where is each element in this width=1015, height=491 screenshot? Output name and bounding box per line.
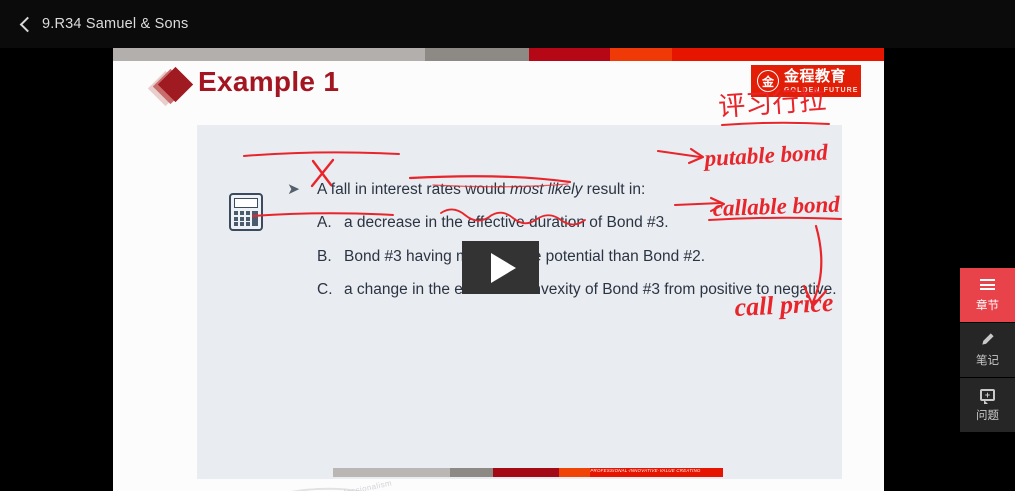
- rail-item-chapters[interactable]: 章节: [960, 268, 1015, 323]
- slide-footer-bar: PROFESSIONAL·INNOVATIVE·VALUE CREATING: [333, 468, 723, 477]
- logo-english-name: GOLDEN FUTURE: [784, 87, 859, 94]
- pencil-icon: [980, 332, 995, 347]
- question-lead-before: A fall in interest rates would: [317, 181, 510, 198]
- option-a[interactable]: A. a decrease in the effective duration …: [317, 213, 847, 232]
- slide-title: Example 1: [198, 66, 339, 98]
- logo-seal-icon: 金: [757, 70, 779, 92]
- rail-item-notes[interactable]: 笔记: [960, 323, 1015, 378]
- play-icon: [491, 253, 516, 283]
- slide-top-color-strip: [113, 48, 884, 61]
- option-b-key: B.: [317, 247, 344, 266]
- rail-item-questions[interactable]: + 问题: [960, 378, 1015, 433]
- tool-rail: 章节 笔记 + 问题: [960, 268, 1015, 433]
- diamond-icon: [151, 71, 195, 107]
- page-title: 9.R34 Samuel & Sons: [42, 16, 188, 32]
- rail-item-notes-label: 笔记: [976, 352, 999, 368]
- logo-chinese-name: 金程教育: [784, 69, 859, 84]
- chevron-left-icon: [20, 16, 36, 32]
- option-c-key: C.: [317, 280, 344, 299]
- option-c-text: a change in the effective convexity of B…: [344, 280, 837, 299]
- top-navigation-bar: 9.R34 Samuel & Sons: [0, 0, 1015, 48]
- brand-logo: 金 金程教育 GOLDEN FUTURE: [751, 65, 861, 97]
- option-c[interactable]: C. a change in the effective convexity o…: [317, 280, 847, 299]
- rail-item-questions-label: 问题: [976, 407, 999, 423]
- slide-header: Example 1 金 金程教育 GOLDEN FUTURE: [113, 61, 884, 113]
- hamburger-icon: [980, 277, 995, 292]
- option-a-text: a decrease in the effective duration of …: [344, 213, 669, 232]
- question-lead: ➤A fall in interest rates would most lik…: [287, 180, 847, 199]
- option-a-key: A.: [317, 213, 344, 232]
- option-b[interactable]: B. Bond #3 having more upside potential …: [317, 247, 847, 266]
- question-block: ➤A fall in interest rates would most lik…: [287, 180, 847, 300]
- footer-tagline: PROFESSIONAL·INNOVATIVE·VALUE CREATING: [590, 468, 723, 477]
- arrow-bullet-icon: ➤: [287, 180, 317, 199]
- rail-item-chapters-label: 章节: [976, 297, 999, 313]
- back-button[interactable]: 9.R34 Samuel & Sons: [0, 0, 198, 48]
- course-player: 9.R34 Samuel & Sons Example 1 金 金程教育 GOL…: [0, 0, 1015, 491]
- question-lead-emphasis: most likely: [510, 181, 582, 198]
- slide-stage[interactable]: Example 1 金 金程教育 GOLDEN FUTURE: [113, 48, 884, 491]
- calculator-icon: [229, 193, 263, 231]
- comment-plus-icon: +: [980, 387, 995, 402]
- play-button[interactable]: [462, 241, 539, 294]
- question-panel: [197, 125, 842, 479]
- question-lead-after: result in:: [582, 181, 645, 198]
